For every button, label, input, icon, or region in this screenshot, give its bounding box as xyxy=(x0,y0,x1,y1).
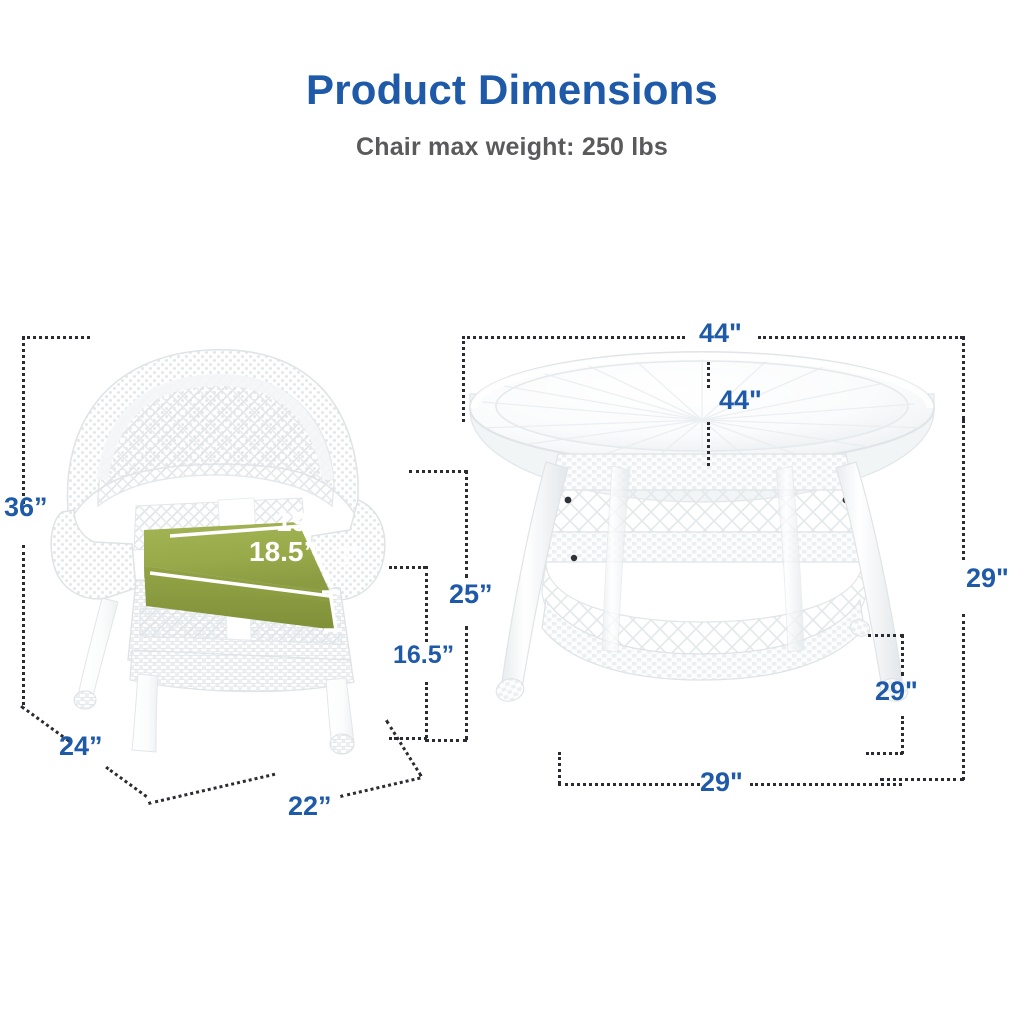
table-base-guide-left xyxy=(558,783,700,786)
table-leg-height-top-guide xyxy=(868,634,903,637)
table-leg-height-guide-lower xyxy=(901,716,904,754)
chair-width-label: 22” xyxy=(288,793,332,820)
chair-arm-height-top-guide xyxy=(409,470,467,473)
table-width-top-guide-left xyxy=(462,336,685,339)
table-width-left-tick xyxy=(462,336,465,422)
chair-height-guide xyxy=(22,336,25,504)
table-base-guide-right xyxy=(750,783,902,786)
table-depth-guide-lower xyxy=(707,422,710,466)
product-dimensions-diagram: Product Dimensions Chair max weight: 250… xyxy=(0,0,1024,1024)
table-depth-label: 44" xyxy=(719,387,762,414)
page-subtitle: Chair max weight: 250 lbs xyxy=(0,133,1024,162)
table-leg-height-guide-upper xyxy=(901,634,904,676)
chair-height-label: 36” xyxy=(4,494,48,521)
table-width-right-tick xyxy=(962,336,965,420)
table-base-width-label: 29" xyxy=(700,769,743,796)
chair-depth-guide-lower xyxy=(105,766,147,798)
chair-base-front-guide-right xyxy=(340,777,421,798)
table-height-guide-upper xyxy=(962,420,965,560)
table-illustration xyxy=(462,350,942,750)
chair-arm-height-bottom-guide xyxy=(425,739,467,742)
chair-height-top-guide xyxy=(22,336,90,339)
cushion-thickness-label: 3” xyxy=(336,541,363,572)
chair-seat-height-guide-lower xyxy=(425,682,428,738)
table-leg-height-bottom-guide xyxy=(866,752,903,755)
table-base-left-tick xyxy=(558,752,561,784)
cushion-back-width-label: 19” xyxy=(276,506,321,538)
chair-illustration xyxy=(40,330,440,760)
chair-height-guide-lower xyxy=(22,545,25,705)
table-width-label: 44" xyxy=(699,320,742,347)
table-leg-height-label: 29" xyxy=(875,678,918,705)
chair-base-front-guide xyxy=(148,773,275,805)
cushion-front-width-label: 18.5” xyxy=(249,536,318,568)
chair-depth-label: 24” xyxy=(59,733,103,760)
page-title: Product Dimensions xyxy=(0,66,1024,114)
chair-seat-height-bottom-guide xyxy=(389,737,427,740)
chair-seat-height-label: 16.5” xyxy=(393,643,454,668)
table-width-top-guide-right xyxy=(758,336,963,339)
table-height-bottom-guide xyxy=(880,778,964,781)
chair-seat-height-guide xyxy=(425,566,428,642)
chair-seat-height-top-guide xyxy=(389,566,426,569)
table-height-guide-lower xyxy=(962,614,965,780)
table-height-label: 29" xyxy=(966,565,1009,592)
table-depth-guide-upper xyxy=(707,362,710,388)
